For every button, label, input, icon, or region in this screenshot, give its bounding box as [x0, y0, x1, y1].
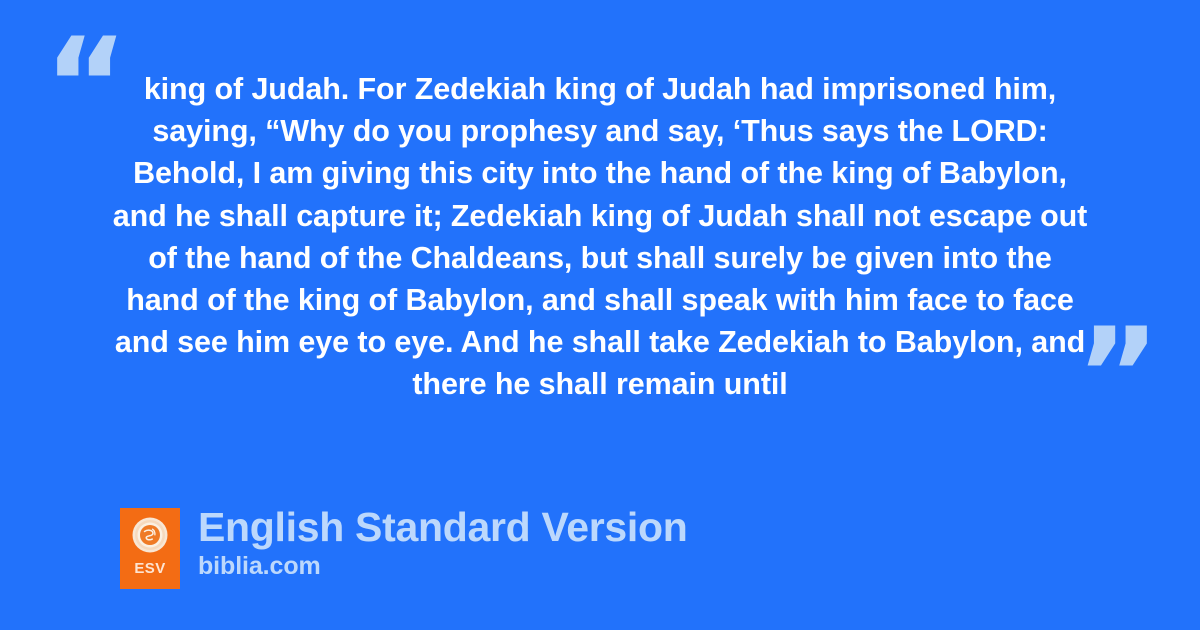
- bible-version-name: English Standard Version: [198, 504, 687, 550]
- quote-card: “ king of Judah. For Zedekiah king of Ju…: [0, 0, 1200, 630]
- quote-block: king of Judah. For Zedekiah king of Juda…: [112, 68, 1088, 406]
- site-name: biblia.com: [198, 552, 687, 580]
- esv-seal-icon: [131, 516, 169, 554]
- esv-logo-badge: ESV: [120, 508, 180, 589]
- quote-text: king of Judah. For Zedekiah king of Juda…: [112, 68, 1088, 406]
- close-quote-icon: ”: [1076, 312, 1160, 440]
- esv-logo-abbrev: ESV: [134, 561, 165, 576]
- attribution-text: English Standard Version biblia.com: [198, 508, 687, 580]
- attribution: ESV English Standard Version biblia.com: [120, 508, 687, 589]
